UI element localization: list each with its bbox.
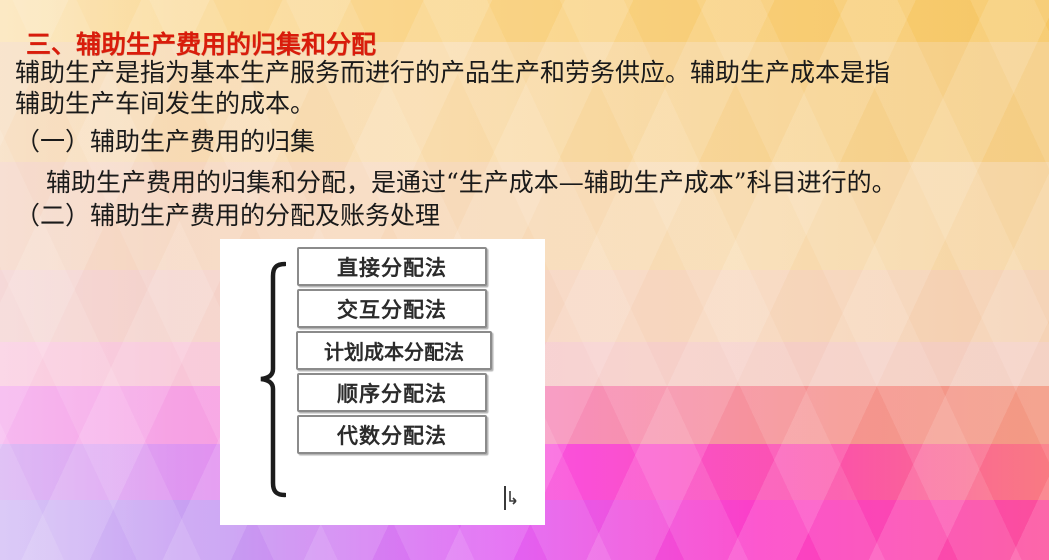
method-box-list: 直接分配法 交互分配法 计划成本分配法 顺序分配法 代数分配法 (296, 247, 496, 457)
slide-content: 三、辅助生产费用的归集和分配 辅助生产是指为基本生产服务而进行的产品生产和劳务供… (0, 0, 1049, 560)
method-box[interactable]: 顺序分配法 (297, 373, 487, 412)
allocation-methods-diagram: 直接分配法 交互分配法 计划成本分配法 顺序分配法 代数分配法 (220, 239, 545, 525)
subsection-one-text: 辅助生产费用的归集和分配，是通过“生产成本—辅助生产成本”科目进行的。 (46, 167, 897, 198)
method-label: 直接分配法 (337, 252, 447, 282)
method-label: 计划成本分配法 (324, 336, 464, 365)
method-box[interactable]: 直接分配法 (297, 247, 487, 286)
slide-canvas: 三、辅助生产费用的归集和分配 辅助生产是指为基本生产服务而进行的产品生产和劳务供… (0, 0, 1049, 560)
subsection-two-heading: （二）辅助生产费用的分配及账务处理 (15, 200, 440, 231)
body-paragraph-line-1: 辅助生产是指为基本生产服务而进行的产品生产和劳务供应。辅助生产成本是指 (15, 57, 890, 88)
subsection-one-heading: （一）辅助生产费用的归集 (15, 126, 315, 157)
page-title: 三、辅助生产费用的归集和分配 (26, 25, 376, 61)
left-curly-brace-icon (256, 261, 286, 498)
method-box[interactable]: 计划成本分配法 (296, 331, 492, 370)
method-box[interactable]: 交互分配法 (297, 289, 487, 328)
method-box[interactable]: 代数分配法 (297, 415, 487, 454)
method-label: 代数分配法 (337, 420, 447, 450)
method-label: 顺序分配法 (337, 378, 447, 408)
method-label: 交互分配法 (337, 294, 447, 324)
paragraph-mark-icon (503, 485, 519, 511)
body-paragraph-line-2: 辅助生产车间发生的成本。 (15, 88, 315, 119)
